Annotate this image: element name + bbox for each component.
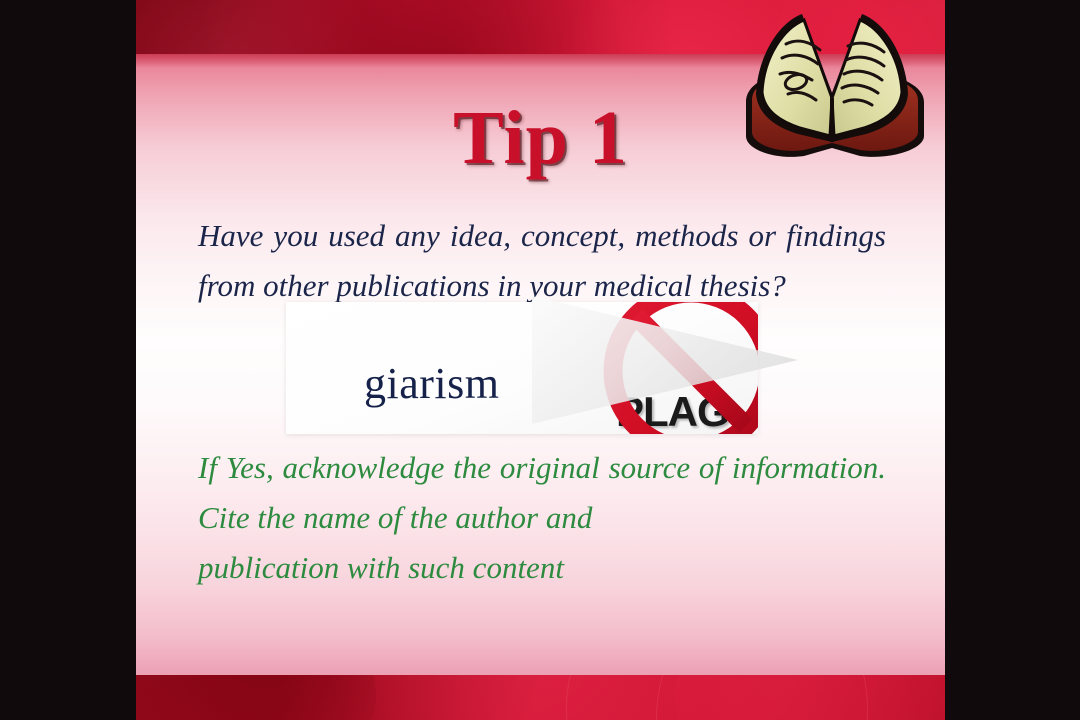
letterbox-right [945, 0, 1080, 720]
answer-main-text: If Yes, acknowledge the original source … [198, 450, 886, 535]
slide-background: Tip 1 Have you used any idea, concept, m… [136, 0, 945, 720]
answer-paragraph: If Yes, acknowledge the original source … [198, 443, 886, 594]
video-player-stage: Tip 1 Have you used any idea, concept, m… [0, 0, 1080, 720]
play-button[interactable] [530, 294, 802, 426]
letterbox-left [0, 0, 136, 720]
open-book-icon [728, 0, 945, 170]
answer-last-line: publication with such content [198, 543, 886, 593]
plagiarism-word-text: giarism [364, 358, 499, 409]
